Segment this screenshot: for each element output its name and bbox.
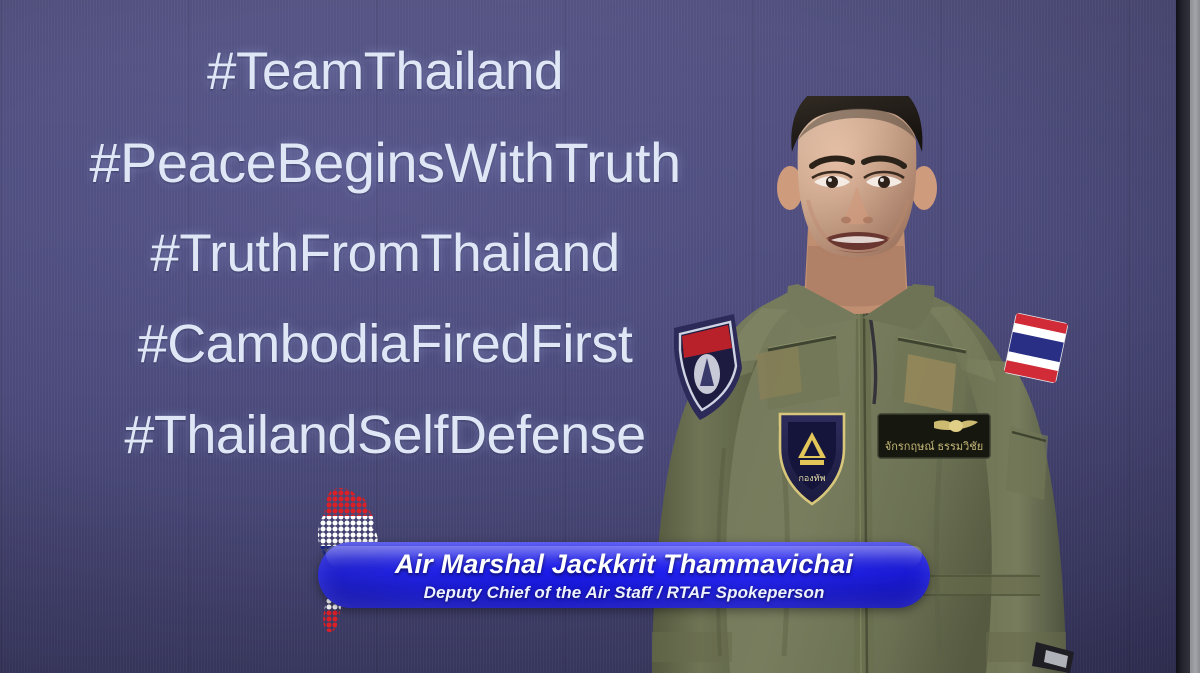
speaker-name: Air Marshal Jackkrit Thammavichai: [318, 549, 930, 580]
svg-text:กองทัพ: กองทัพ: [798, 473, 825, 483]
broadcast-frame: #TeamThailand #PeaceBeginsWithTruth #Tru…: [0, 0, 1200, 673]
right-shoulder-thai-flag-patch: [1004, 313, 1067, 383]
hashtag-text-3: #TruthFromThailand: [150, 224, 619, 283]
hashtag-text-2: #PeaceBeginsWithTruth: [89, 131, 680, 194]
speaker-role: Deputy Chief of the Air Staff / RTAF Spo…: [318, 583, 930, 603]
studio-wall: [1190, 0, 1200, 673]
hashtag-text-5: #ThailandSelfDefense: [124, 405, 645, 465]
lower-third-banner: Air Marshal Jackkrit Thammavichai Deputy…: [296, 520, 946, 630]
head: [777, 96, 937, 260]
hashtag-text-4: #CambodiaFiredFirst: [138, 314, 633, 374]
led-wall-bezel: [1176, 0, 1190, 673]
right-chest-nametape-patch: จักรกฤษณ์ ธรรมวิชัย: [878, 414, 990, 458]
svg-text:จักรกฤษณ์ ธรรมวิชัย: จักรกฤษณ์ ธรรมวิชัย: [885, 440, 983, 453]
hashtag-text-1: #TeamThailand: [207, 42, 563, 101]
